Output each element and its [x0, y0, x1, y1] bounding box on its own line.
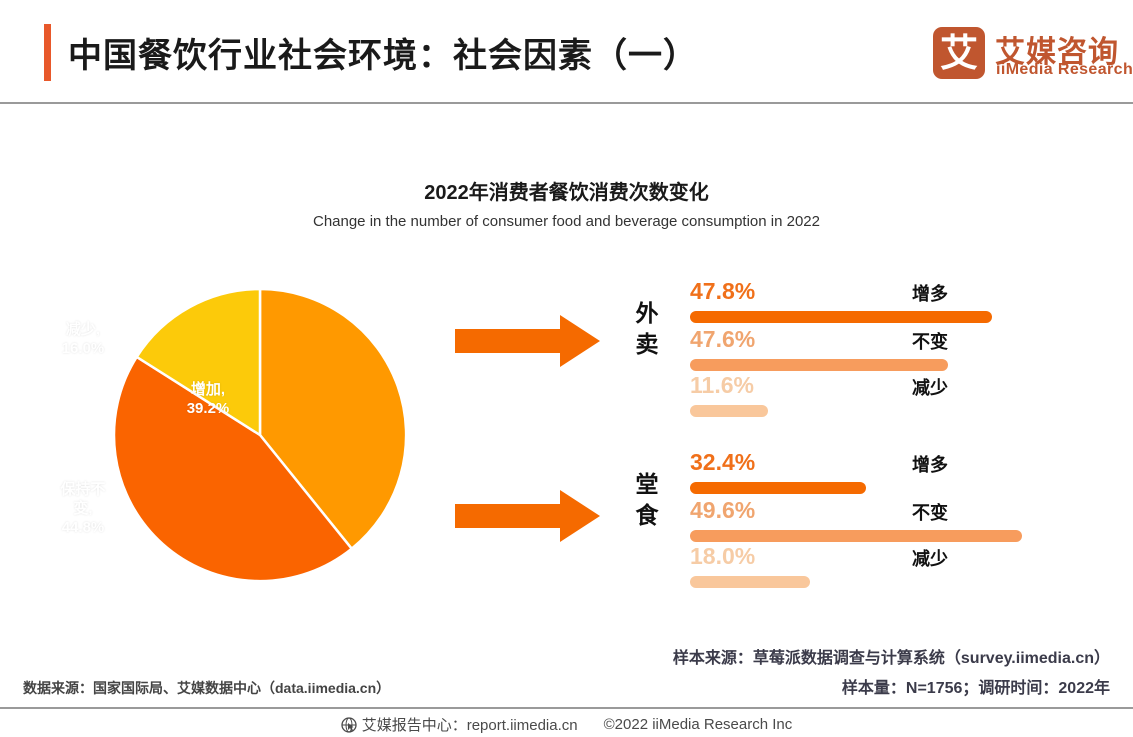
- bar-value: 18.0%: [690, 543, 755, 570]
- bar-track: [690, 482, 866, 494]
- pie-label-same-name1: 保持不: [48, 480, 118, 499]
- bar-row: 49.6% 不变: [690, 497, 1060, 545]
- footer-report-center[interactable]: 艾媒报告中心：report.iimedia.cn: [341, 714, 578, 735]
- bar-row: 18.0% 减少: [690, 543, 1060, 591]
- bar-category-label: 增多: [912, 280, 948, 306]
- bar-fill: [690, 576, 810, 588]
- bar-row: 11.6% 减少: [690, 372, 1060, 420]
- iimedia-logo: 艾 艾媒咨询 iiMedia Research: [933, 25, 1119, 85]
- pie-label-increase: 增加, 39.2%: [168, 380, 248, 418]
- bar-group-dinein: 堂 食 32.4% 增多 49.6% 不变 18.0% 减少: [630, 443, 1060, 588]
- footer-copyright: ©2022 iiMedia Research Inc: [604, 716, 793, 733]
- pie-label-increase-value: 39.2%: [168, 399, 248, 418]
- page-footer: 艾媒报告中心：report.iimedia.cn ©2022 iiMedia R…: [0, 712, 1133, 737]
- bar-value: 47.6%: [690, 326, 755, 353]
- pie-label-same: 保持不 变, 44.8%: [48, 480, 118, 537]
- sample-source-note: 样本来源：草莓派数据调查与计算系统（survey.iimedia.cn）: [0, 644, 1110, 668]
- arrow-to-takeout-icon: [455, 315, 600, 367]
- pie-label-decrease: 减少, 16.0%: [48, 320, 118, 358]
- bar-value: 32.4%: [690, 449, 755, 476]
- pie-label-decrease-name: 减少,: [48, 320, 118, 339]
- bar-track: [690, 405, 768, 417]
- bar-category-label: 减少: [912, 545, 948, 571]
- footer-report-center-text: 艾媒报告中心：report.iimedia.cn: [362, 714, 578, 735]
- bar-group-takeout-label-line1: 外: [630, 298, 664, 329]
- logo-mark-icon: 艾: [933, 27, 985, 79]
- bar-group-dinein-label-line2: 食: [630, 500, 664, 531]
- pie-chart-svg: [110, 285, 410, 585]
- bar-row: 32.4% 增多: [690, 449, 1060, 497]
- footer-divider: [0, 707, 1133, 709]
- data-source-note: 数据来源：国家国际局、艾媒数据中心（data.iimedia.cn）: [23, 678, 390, 698]
- bar-group-dinein-label-line1: 堂: [630, 469, 664, 500]
- bar-category-label: 不变: [912, 328, 948, 354]
- bar-fill: [690, 311, 992, 323]
- bar-fill: [690, 482, 866, 494]
- bar-track: [690, 311, 992, 323]
- bar-group-dinein-label: 堂 食: [630, 469, 664, 531]
- pie-label-same-name2: 变,: [48, 499, 118, 518]
- bar-category-label: 增多: [912, 451, 948, 477]
- bar-group-takeout-label: 外 卖: [630, 298, 664, 360]
- logo-name-en: iiMedia Research: [996, 61, 1133, 79]
- page-title: 中国餐饮行业社会环境：社会因素（一）: [68, 28, 698, 77]
- bar-category-label: 不变: [912, 499, 948, 525]
- pie-label-increase-name: 增加,: [168, 380, 248, 399]
- bar-row: 47.6% 不变: [690, 326, 1060, 374]
- header-divider: [0, 102, 1133, 104]
- chart-title: 2022年消费者餐饮消费次数变化: [0, 176, 1133, 205]
- pie-label-decrease-value: 16.0%: [48, 339, 118, 358]
- bar-row: 47.8% 增多: [690, 278, 1060, 326]
- bar-track: [690, 530, 1022, 542]
- bar-group-takeout: 外 卖 47.8% 增多 47.6% 不变 11.6% 减少: [630, 272, 1060, 417]
- logo-mark-glyph: 艾: [933, 27, 985, 79]
- bar-fill: [690, 359, 948, 371]
- bar-track: [690, 576, 810, 588]
- bar-track: [690, 359, 948, 371]
- bar-value: 11.6%: [690, 372, 754, 399]
- header-accent-bar: [44, 24, 51, 81]
- bar-fill: [690, 530, 1022, 542]
- bar-value: 49.6%: [690, 497, 755, 524]
- pie-chart: [110, 285, 410, 585]
- arrow-to-dinein-icon: [455, 490, 600, 542]
- pie-label-same-value: 44.8%: [48, 518, 118, 537]
- chart-subtitle: Change in the number of consumer food an…: [0, 213, 1133, 230]
- bar-category-label: 减少: [912, 374, 948, 400]
- bar-value: 47.8%: [690, 278, 755, 305]
- globe-icon: [341, 717, 357, 733]
- bar-fill: [690, 405, 768, 417]
- bar-group-takeout-label-line2: 卖: [630, 329, 664, 360]
